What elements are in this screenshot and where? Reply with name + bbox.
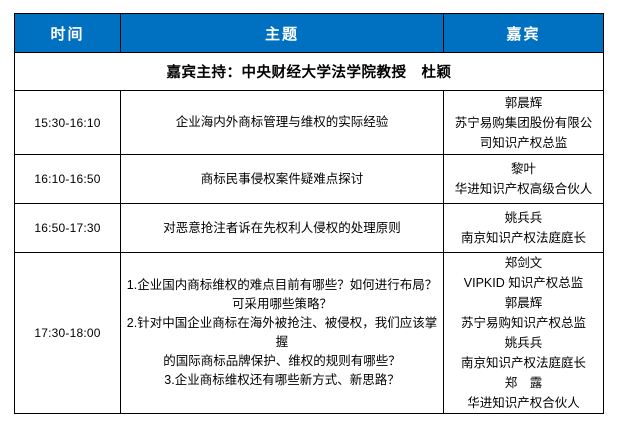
session-time: 17:30-18:00 xyxy=(15,253,121,414)
guest-title-line: 南京知识产权法庭庭长 xyxy=(444,353,603,373)
guest-title-line: 南京知识产权法庭庭长 xyxy=(444,228,603,248)
guest-name: 郑剑文 xyxy=(444,253,603,273)
table-header-row: 时间 主题 嘉宾 xyxy=(15,14,604,53)
column-header-guest: 嘉宾 xyxy=(444,14,604,53)
topic-line: 的国际商标品牌保护、维权的规则有哪些？ xyxy=(121,352,443,371)
session-time: 16:50-17:30 xyxy=(15,204,121,253)
session-topic: 企业海内外商标管理与维权的实际经验 xyxy=(121,91,444,155)
guest-title-line: 司知识产权总监 xyxy=(444,133,603,153)
table-row: 16:10-16:50 商标民事侵权案件疑难点探讨 黎叶 华进知识产权高级合伙人 xyxy=(15,155,604,204)
guest-title-line: 华进知识产权高级合伙人 xyxy=(444,179,603,199)
guest-name: 郭晨辉 xyxy=(444,293,603,313)
guest-title-line: VIPKID 知识产权总监 xyxy=(444,273,603,293)
topic-line: 1.企业国内商标维权的难点目前有哪些？如何进行布局？ xyxy=(121,276,443,295)
session-time: 15:30-16:10 xyxy=(15,91,121,155)
guest-name: 郭晨辉 xyxy=(444,93,603,113)
session-guest: 姚兵兵 南京知识产权法庭庭长 xyxy=(444,204,604,253)
guest-title-line: 苏宁易购知识产权总监 xyxy=(444,313,603,333)
column-header-time: 时间 xyxy=(15,14,121,53)
session-topic: 1.企业国内商标维权的难点目前有哪些？如何进行布局？ 可采用哪些策略？ 2.针对… xyxy=(121,253,444,414)
session-guest: 郭晨辉 苏宁易购集团股份有限公 司知识产权总监 xyxy=(444,91,604,155)
topic-line: 商标民事侵权案件疑难点探讨 xyxy=(121,170,443,189)
table-row: 16:50-17:30 对恶意抢注者诉在先权利人侵权的处理原则 姚兵兵 南京知识… xyxy=(15,204,604,253)
topic-line: 企业海内外商标管理与维权的实际经验 xyxy=(121,113,443,132)
guest-name: 黎叶 xyxy=(444,159,603,179)
agenda-table: 时间 主题 嘉宾 嘉宾主持：中央财经大学法学院教授 杜颖 15:30-16:10… xyxy=(14,13,604,414)
guest-title-line: 苏宁易购集团股份有限公 xyxy=(444,113,603,133)
moderator-label: 嘉宾主持：中央财经大学法学院教授 杜颖 xyxy=(15,53,604,91)
topic-line: 2.针对中国企业商标在海外被抢注、被侵权，我们应该掌握 xyxy=(121,314,443,352)
topic-line: 可采用哪些策略？ xyxy=(121,295,443,314)
table-row: 17:30-18:00 1.企业国内商标维权的难点目前有哪些？如何进行布局？ 可… xyxy=(15,253,604,414)
table-row: 15:30-16:10 企业海内外商标管理与维权的实际经验 郭晨辉 苏宁易购集团… xyxy=(15,91,604,155)
session-topic: 对恶意抢注者诉在先权利人侵权的处理原则 xyxy=(121,204,444,253)
guest-name: 姚兵兵 xyxy=(444,333,603,353)
session-guest: 郑剑文 VIPKID 知识产权总监 郭晨辉 苏宁易购知识产权总监 姚兵兵 南京知… xyxy=(444,253,604,414)
guest-name: 郑 露 xyxy=(444,373,603,393)
guest-name: 姚兵兵 xyxy=(444,208,603,228)
session-time: 16:10-16:50 xyxy=(15,155,121,204)
topic-line: 3.企业商标维权还有哪些新方式、新思路？ xyxy=(121,371,443,390)
session-guest: 黎叶 华进知识产权高级合伙人 xyxy=(444,155,604,204)
session-topic: 商标民事侵权案件疑难点探讨 xyxy=(121,155,444,204)
moderator-row: 嘉宾主持：中央财经大学法学院教授 杜颖 xyxy=(15,53,604,91)
guest-title-line: 华进知识产权合伙人 xyxy=(444,393,603,413)
topic-line: 对恶意抢注者诉在先权利人侵权的处理原则 xyxy=(121,219,443,238)
column-header-topic: 主题 xyxy=(121,14,444,53)
agenda-table-container: 时间 主题 嘉宾 嘉宾主持：中央财经大学法学院教授 杜颖 15:30-16:10… xyxy=(14,13,603,414)
